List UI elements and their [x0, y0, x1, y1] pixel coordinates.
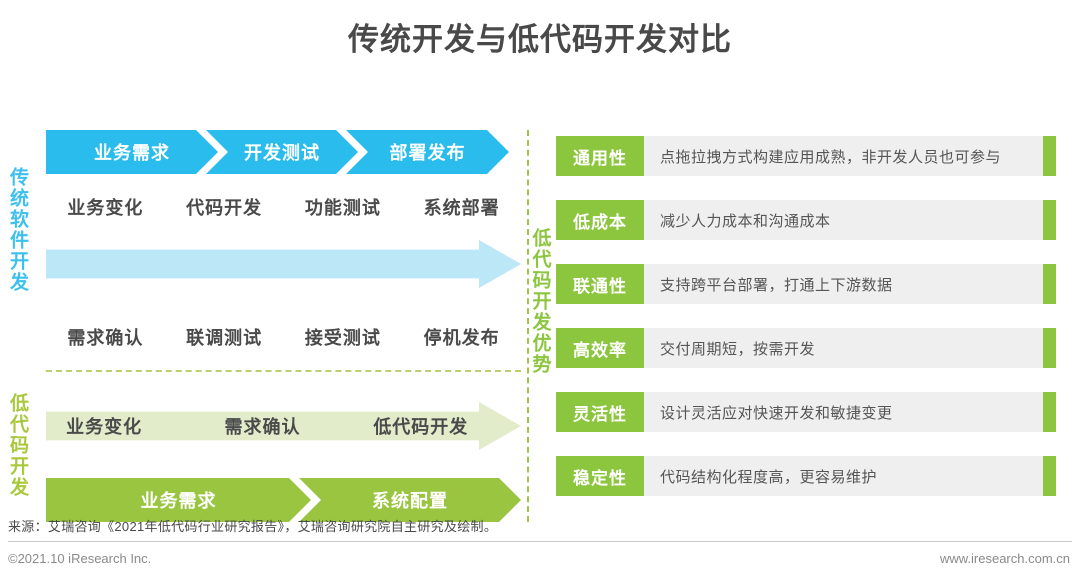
infographic-page: 传统开发与低代码开发对比 传统软件开发 低代码开发 低代码开发优势 业务需求 开…	[0, 0, 1080, 577]
traditional-step-bottom-4: 停机发布	[402, 324, 521, 350]
chevron-stage-1: 业务需求	[46, 130, 218, 174]
chevron-stage-3-label: 部署发布	[390, 139, 466, 165]
traditional-timeline-arrow-body	[46, 240, 521, 288]
advantage-row: 通用性 点拖拉拽方式构建应用成熟，非开发人员也可参与	[556, 136, 1056, 176]
lowcode-step-1: 业务变化	[46, 413, 204, 439]
advantage-description: 点拖拉拽方式构建应用成熟，非开发人员也可参与	[644, 136, 1043, 176]
left-comparison-panel: 业务需求 开发测试 部署发布 业务变化 代码开发 功能测试 系统部署 需求确认 …	[46, 130, 521, 522]
footer-divider	[8, 541, 1072, 542]
advantage-accent-bar	[1043, 456, 1056, 496]
advantage-description: 支持跨平台部署，打通上下游数据	[644, 264, 1043, 304]
advantage-row: 高效率 交付周期短，按需开发	[556, 328, 1056, 368]
traditional-timeline-arrow	[46, 240, 521, 288]
traditional-step-top-3: 功能测试	[284, 194, 403, 220]
advantage-accent-bar	[1043, 136, 1056, 176]
advantage-accent-bar	[1043, 200, 1056, 240]
lowcode-timeline-arrow-body: 业务变化 需求确认 低代码开发	[46, 402, 521, 450]
advantage-tag: 通用性	[556, 136, 644, 176]
side-label-advantages: 低代码开发优势	[527, 228, 553, 448]
website-url: www.iresearch.com.cn	[940, 551, 1070, 566]
advantage-description: 交付周期短，按需开发	[644, 328, 1043, 368]
traditional-steps-bottom: 需求确认 联调测试 接受测试 停机发布	[46, 320, 521, 354]
copyright-text: ©2021.10 iResearch Inc.	[8, 551, 151, 566]
advantage-row: 联通性 支持跨平台部署，打通上下游数据	[556, 264, 1056, 304]
source-note: 来源：艾瑞咨询《2021年低代码行业研究报告》，艾瑞咨询研究院自主研究及绘制。	[8, 516, 497, 535]
chevron-stage-2: 开发测试	[206, 130, 358, 174]
advantage-description: 代码结构化程度高，更容易维护	[644, 456, 1043, 496]
advantages-panel: 通用性 点拖拉拽方式构建应用成熟，非开发人员也可参与 低成本 减少人力成本和沟通…	[556, 136, 1056, 520]
advantage-row: 稳定性 代码结构化程度高，更容易维护	[556, 456, 1056, 496]
advantage-tag: 稳定性	[556, 456, 644, 496]
advantage-tag: 高效率	[556, 328, 644, 368]
advantage-accent-bar	[1043, 264, 1056, 304]
traditional-stage-chevrons: 业务需求 开发测试 部署发布	[46, 130, 521, 174]
chevron-stage-2-label: 开发测试	[244, 139, 320, 165]
lowcode-step-2: 需求确认	[204, 413, 362, 439]
page-title: 传统开发与低代码开发对比	[0, 14, 1080, 59]
lowcode-step-3: 低代码开发	[363, 413, 521, 439]
advantage-accent-bar	[1043, 392, 1056, 432]
side-label-traditional: 传统软件开发	[8, 140, 27, 320]
advantage-description: 减少人力成本和沟通成本	[644, 200, 1043, 240]
advantage-tag: 灵活性	[556, 392, 644, 432]
chevron-stage-1-label: 业务需求	[94, 139, 170, 165]
advantage-tag: 低成本	[556, 200, 644, 240]
advantage-row: 低成本 减少人力成本和沟通成本	[556, 200, 1056, 240]
advantage-tag: 联通性	[556, 264, 644, 304]
traditional-step-bottom-3: 接受测试	[284, 324, 403, 350]
advantage-accent-bar	[1043, 328, 1056, 368]
horizontal-dashed-separator	[46, 370, 521, 372]
traditional-step-top-1: 业务变化	[46, 194, 165, 220]
advantage-description: 设计灵活应对快速开发和敏捷变更	[644, 392, 1043, 432]
lowcode-timeline-arrow: 业务变化 需求确认 低代码开发	[46, 402, 521, 450]
chevron-lowcode-stage-2-label: 系统配置	[372, 487, 448, 513]
traditional-steps-top: 业务变化 代码开发 功能测试 系统部署	[46, 190, 521, 224]
traditional-step-bottom-2: 联调测试	[165, 324, 284, 350]
traditional-step-top-2: 代码开发	[165, 194, 284, 220]
advantage-row: 灵活性 设计灵活应对快速开发和敏捷变更	[556, 392, 1056, 432]
side-label-lowcode: 低代码开发	[8, 382, 27, 508]
chevron-stage-3: 部署发布	[346, 130, 509, 174]
traditional-step-top-4: 系统部署	[402, 194, 521, 220]
chevron-lowcode-stage-1-label: 业务需求	[141, 487, 217, 513]
traditional-step-bottom-1: 需求确认	[46, 324, 165, 350]
